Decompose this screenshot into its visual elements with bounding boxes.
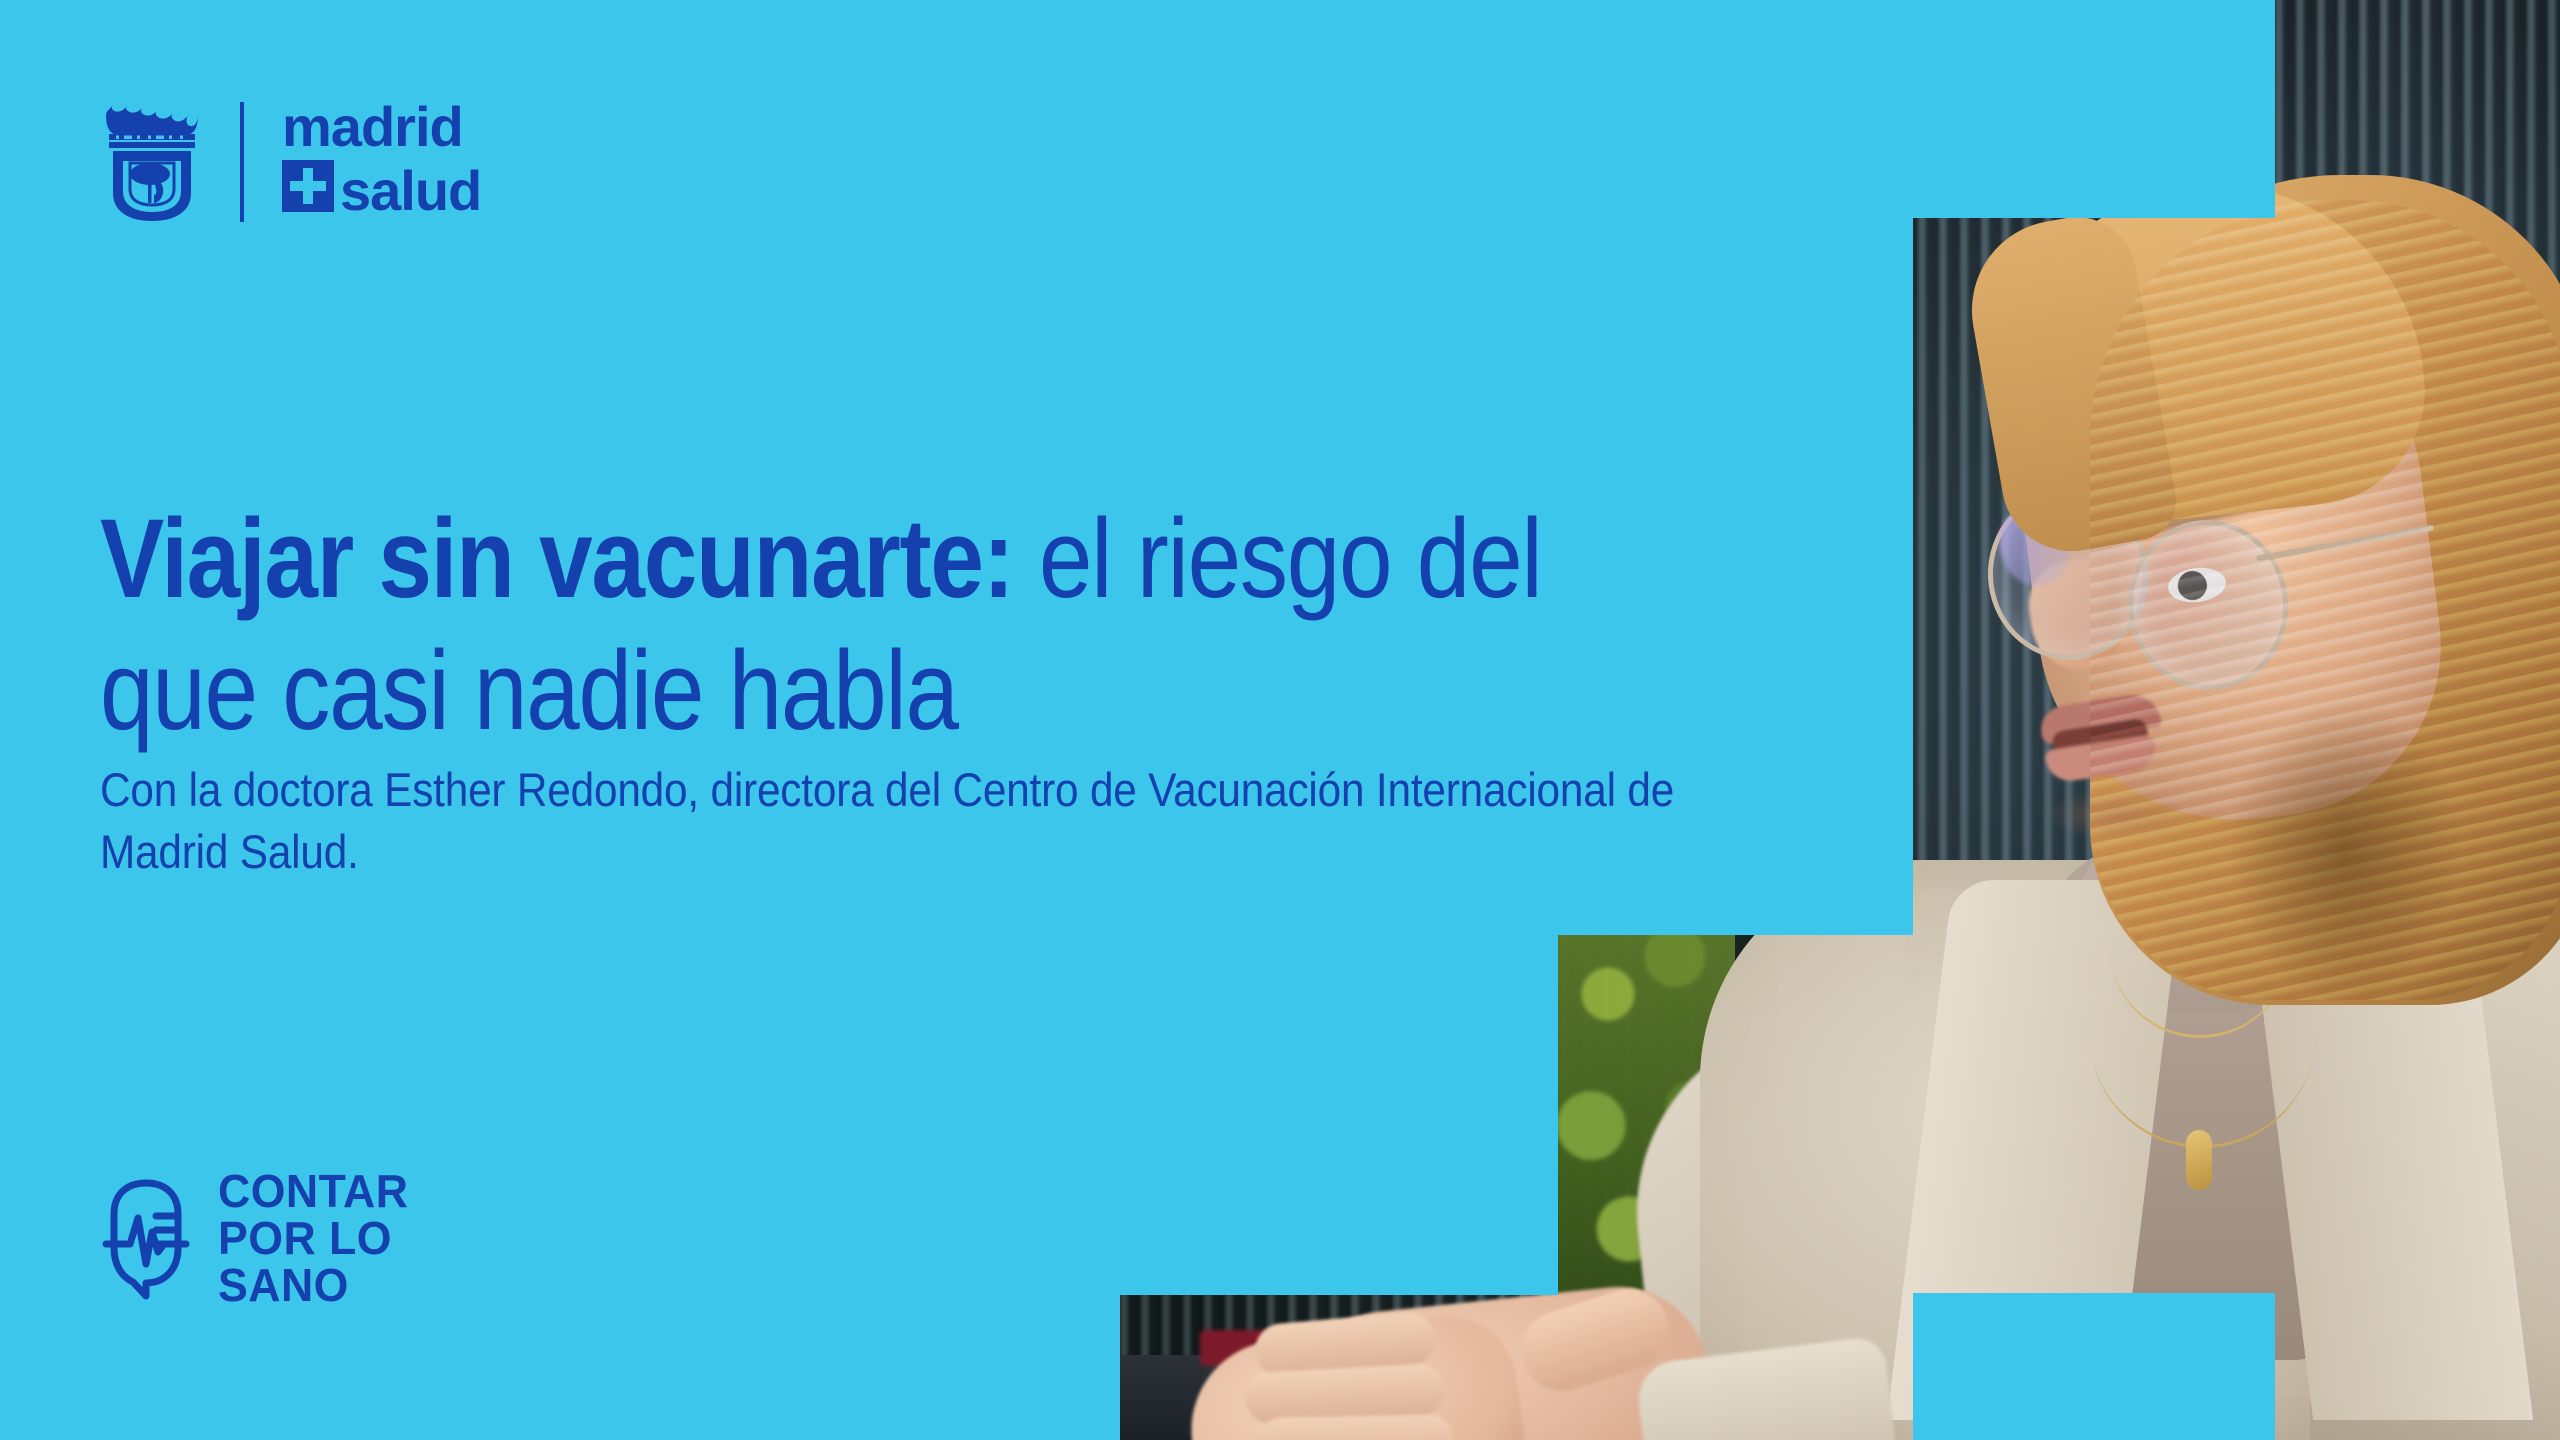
finger-3 [1258, 1414, 1454, 1440]
microphone-heartbeat-icon [100, 1174, 192, 1302]
cpls-line-3: SANO [218, 1262, 408, 1309]
madrid-salud-logo[interactable]: madrid salud [100, 98, 538, 226]
contar-por-lo-sano-logo[interactable]: CONTAR POR LO SANO [100, 1168, 414, 1309]
cpls-line-2: POR LO [218, 1215, 408, 1262]
subtitle: Con la doctora Esther Redondo, directora… [100, 759, 1765, 883]
svg-text:salud: salud [340, 159, 481, 222]
madrid-coat-of-arms-icon [100, 101, 204, 223]
necklace-pendant [2186, 1130, 2212, 1190]
page-title: Viajar sin vacunarte: el riesgo del que … [100, 493, 1596, 757]
madrid-salud-wordmark: madrid salud [282, 98, 538, 226]
cpls-line-1: CONTAR [218, 1168, 408, 1215]
video-thumbnail-card: madrid salud Viajar sin vacunarte: el ri… [0, 0, 2560, 1440]
logo-divider [240, 102, 244, 222]
headline-emphasis: Viajar sin vacunarte: [100, 496, 1013, 621]
contar-por-lo-sano-wordmark: CONTAR POR LO SANO [218, 1168, 408, 1309]
svg-text:madrid: madrid [282, 98, 463, 158]
hair-shadow [2230, 700, 2460, 1000]
